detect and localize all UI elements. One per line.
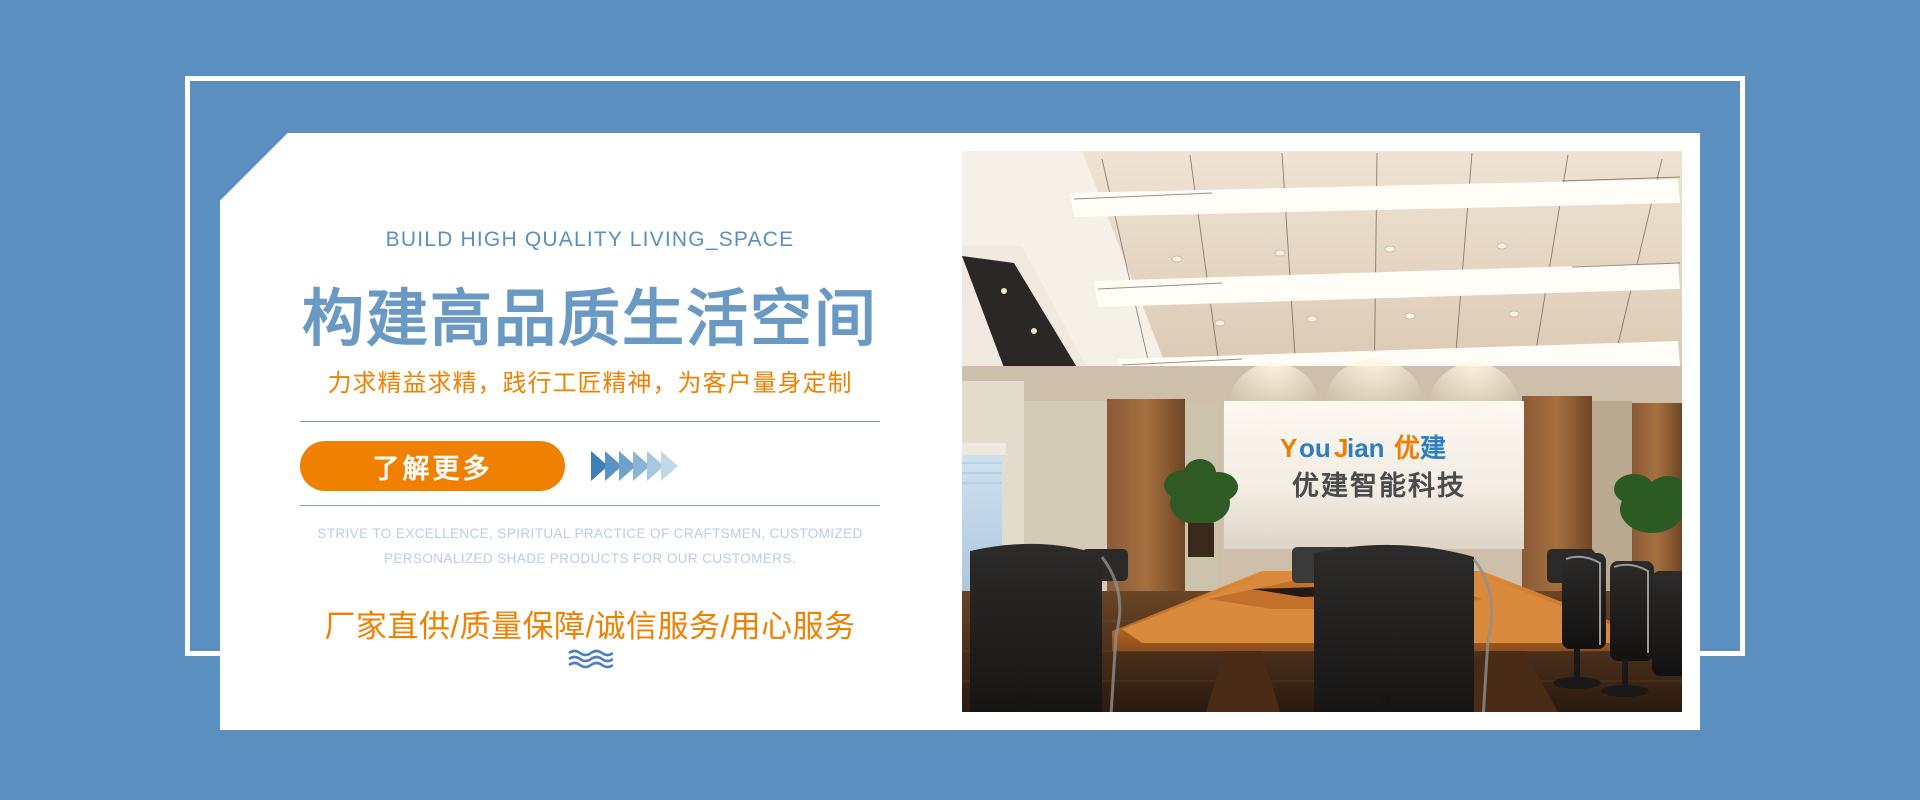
chevron-arrows xyxy=(591,451,675,481)
subtitle-text: 力求精益求精，践行工匠精神，为客户量身定制 xyxy=(220,363,960,398)
keywords-text: 厂家直供/质量保障/诚信服务/用心服务 xyxy=(220,601,960,646)
eyebrow-text: BUILD HIGH QUALITY LIVING_SPACE xyxy=(220,228,960,252)
learn-more-button[interactable]: 了解更多 xyxy=(300,441,565,491)
svg-text:ou: ou xyxy=(1299,433,1331,463)
english-tagline-line2: PERSONALIZED SHADE PRODUCTS FOR OUR CUST… xyxy=(280,546,900,571)
wave-icon xyxy=(567,648,613,670)
svg-text:建: 建 xyxy=(1420,433,1446,463)
svg-text:Y: Y xyxy=(1280,433,1297,463)
svg-text:ian: ian xyxy=(1347,433,1385,463)
svg-text:优建智能科技: 优建智能科技 xyxy=(1292,470,1466,501)
page-title: 构建高品质生活空间 xyxy=(220,268,960,358)
svg-text:优: 优 xyxy=(1394,433,1420,463)
english-tagline: STRIVE TO EXCELLENCE, SPIRITUAL PRACTICE… xyxy=(280,521,900,571)
cta-row: 了解更多 xyxy=(300,438,900,494)
chevron-right-icon xyxy=(661,451,678,481)
divider-bottom xyxy=(300,505,880,506)
divider-top xyxy=(300,421,880,422)
wave-icon-wrap xyxy=(220,648,960,675)
left-text-column: BUILD HIGH QUALITY LIVING_SPACE 构建高品质生活空… xyxy=(220,133,960,730)
conference-room-photo: Y ou J ian 优 建 优建智能科技 xyxy=(962,151,1682,712)
banner-panel: 厂家直供 BUILD HIGH QUALITY LIVING_SPACE 构建高… xyxy=(220,133,1700,730)
english-tagline-line1: STRIVE TO EXCELLENCE, SPIRITUAL PRACTICE… xyxy=(280,521,900,546)
